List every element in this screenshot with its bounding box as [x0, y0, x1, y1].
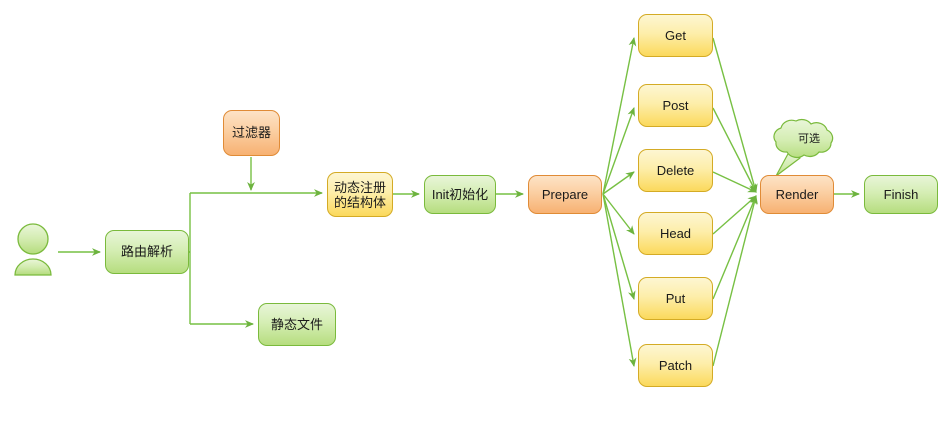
edge-layer	[0, 0, 951, 448]
node-render-label: Render	[773, 187, 822, 203]
edge-head-to-render	[713, 196, 756, 234]
node-method-head[interactable]: Head	[638, 212, 713, 255]
actor-icon	[15, 224, 51, 275]
node-method-put[interactable]: Put	[638, 277, 713, 320]
node-render[interactable]: Render	[760, 175, 834, 214]
node-filter[interactable]: 过滤器	[223, 110, 280, 156]
edge-post-to-render	[713, 108, 756, 192]
node-dynamic-struct-label-line1: 动态注册	[331, 180, 389, 195]
node-method-patch[interactable]: Patch	[638, 344, 713, 387]
edge-prepare-to-get	[603, 38, 634, 194]
node-method-get-label: Get	[662, 28, 689, 44]
node-init[interactable]: Init初始化	[424, 175, 496, 214]
cloud-label: 可选	[788, 130, 830, 146]
edge-delete-to-render	[713, 172, 756, 192]
node-route-label: 路由解析	[118, 244, 176, 260]
flowchart-canvas: 可选 路由解析 过滤器 静态文件 动态注册 的结构体 Init初始化 Prepa…	[0, 0, 951, 448]
edge-prepare-to-head	[603, 194, 634, 234]
node-dynamic-struct-label-line2: 的结构体	[331, 195, 389, 210]
node-finish-label: Finish	[881, 187, 922, 203]
node-dynamic-struct[interactable]: 动态注册 的结构体	[327, 172, 393, 217]
node-static-file-label: 静态文件	[268, 317, 326, 333]
edge-prepare-to-post	[603, 108, 634, 194]
node-method-delete-label: Delete	[654, 163, 698, 179]
edge-get-to-render	[713, 38, 756, 192]
node-prepare[interactable]: Prepare	[528, 175, 602, 214]
node-init-label: Init初始化	[429, 187, 491, 203]
edge-prepare-to-patch	[603, 194, 634, 366]
node-method-patch-label: Patch	[656, 358, 695, 374]
node-method-delete[interactable]: Delete	[638, 149, 713, 192]
node-filter-label: 过滤器	[229, 125, 274, 141]
node-route[interactable]: 路由解析	[105, 230, 189, 274]
node-method-get[interactable]: Get	[638, 14, 713, 57]
node-method-post-label: Post	[659, 98, 691, 114]
node-prepare-label: Prepare	[539, 187, 591, 203]
cloud-callout	[774, 119, 833, 176]
edge-patch-to-render	[713, 196, 756, 366]
node-method-head-label: Head	[657, 226, 694, 242]
node-static-file[interactable]: 静态文件	[258, 303, 336, 346]
node-method-post[interactable]: Post	[638, 84, 713, 127]
node-finish[interactable]: Finish	[864, 175, 938, 214]
node-method-put-label: Put	[663, 291, 689, 307]
